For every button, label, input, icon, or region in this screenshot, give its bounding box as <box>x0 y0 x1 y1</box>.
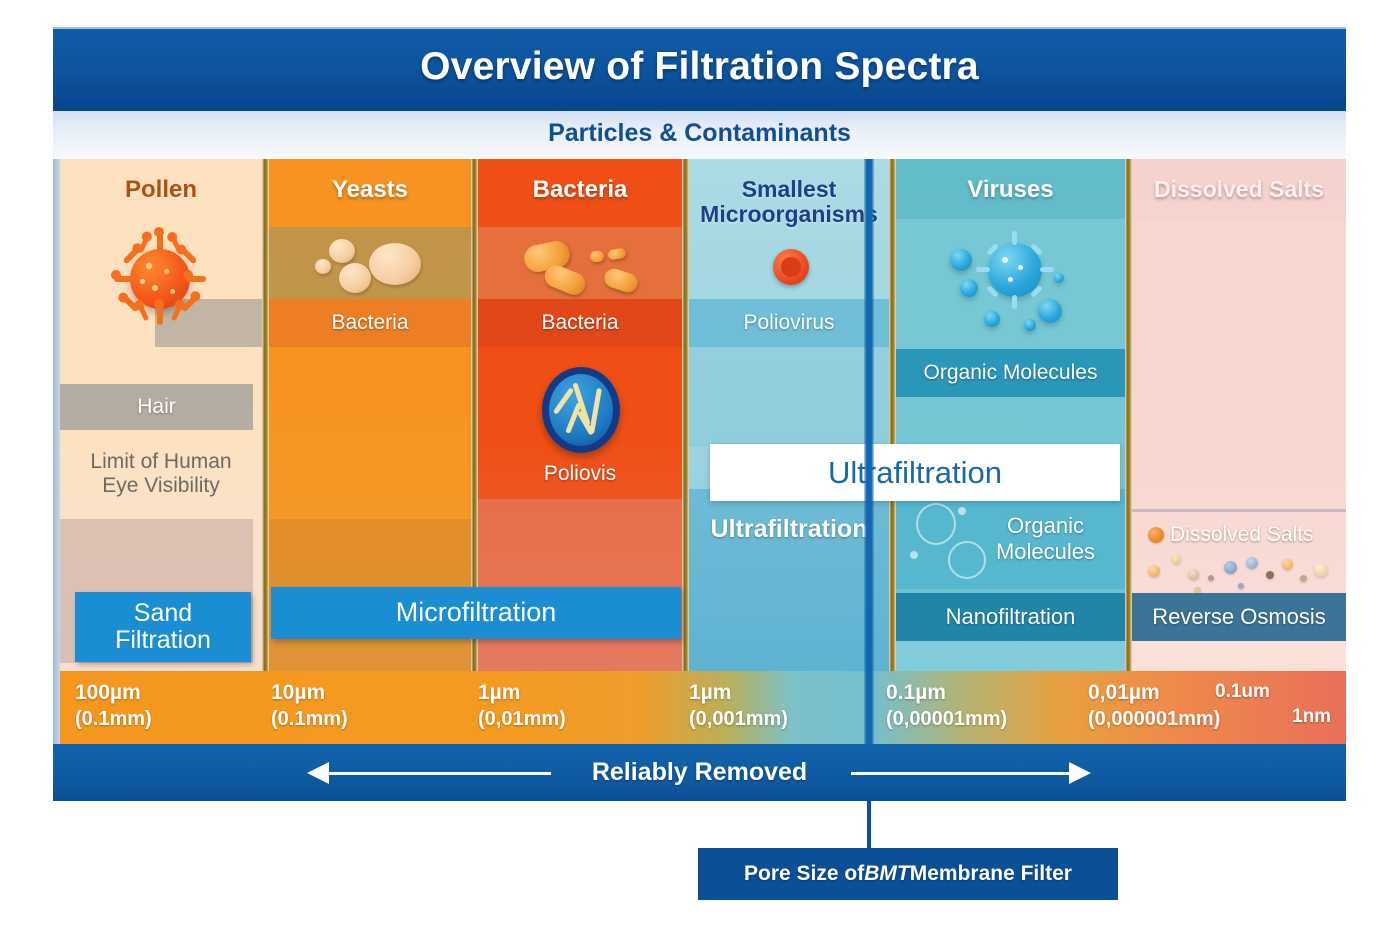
arrow-line-right <box>851 772 1069 775</box>
label-organic-molecules-wide: Organic Molecules <box>896 349 1125 397</box>
method-reverse-osmosis[interactable]: Reverse Osmosis <box>1132 593 1346 641</box>
dissolved-salt-particles-icon <box>1148 527 1164 543</box>
callout-prefix: Pore Size of <box>744 862 864 886</box>
label-hair-text: Hair <box>137 395 176 419</box>
column-title-salts: Dissolved Salts <box>1132 177 1346 202</box>
label-poliovis: Poliovis <box>478 457 682 491</box>
column-divider-3 <box>682 159 689 671</box>
scale-um-4: 0.1µm <box>886 681 1007 705</box>
callout-brand: BMT <box>864 862 910 886</box>
method-nanofiltration[interactable]: Nanofiltration <box>896 593 1125 641</box>
page-title: Overview of Filtration Spectra <box>53 45 1346 89</box>
bacteria-rods-icon <box>518 239 658 299</box>
label-eye-visibility: Limit of Human Eye Visibility <box>60 439 262 509</box>
scale-mm-1: (0.1mm) <box>271 708 348 731</box>
column-smallest-microorganisms: Smallest Microorganisms Poliovirus <box>689 159 889 671</box>
spectrum-board: Pollen <box>53 159 1346 744</box>
method-sand-line2: Filtration <box>115 627 211 655</box>
column-title-pollen: Pollen <box>60 177 262 203</box>
pore-size-callout: Pore Size of BMT Membrane Filter <box>698 848 1118 900</box>
scale-um-3: 1µm <box>689 681 788 705</box>
label-poliovirus: Poliovirus <box>689 299 889 347</box>
label-poliovis-text: Poliovis <box>544 462 616 486</box>
column-title-smallest-line1: Smallest <box>689 177 889 202</box>
scale-item-3: 1µm (0,001mm) <box>689 681 788 731</box>
virus-cluster-icon <box>946 229 1086 339</box>
label-ultrafiltration-col: Ultrafiltration <box>689 507 889 551</box>
method-microfiltration-text: Microfiltration <box>396 598 557 628</box>
stripe-salts-upper <box>1132 219 1346 499</box>
scale-mm-5: (0,000001mm) <box>1088 708 1220 731</box>
scale-item-6: 0.1um <box>1215 681 1270 703</box>
scale-mm-2: (0,01mm) <box>478 708 566 731</box>
bottom-bar: Reliably Removed <box>53 744 1346 801</box>
label-ultrafiltration-col-text: Ultrafiltration <box>711 515 868 544</box>
stripe-salts-divider <box>1132 509 1346 512</box>
pore-size-marker-line <box>864 159 874 744</box>
reliably-removed-label: Reliably Removed <box>53 758 1346 787</box>
label-bacteria-bacteria-text: Bacteria <box>541 311 618 335</box>
scale-um-5: 0,01µm <box>1088 681 1220 705</box>
method-ultrafiltration-text: Ultrafiltration <box>828 455 1002 491</box>
scale-mm-0: (0.1mm) <box>75 708 152 731</box>
label-organic-line2: Molecules <box>996 539 1095 565</box>
molecule-node-icon <box>958 507 966 515</box>
label-bacteria-yeasts: Bacteria <box>269 299 471 347</box>
stripe-bacteria-lower <box>478 499 682 671</box>
scale-item-1: 10µm (0.1mm) <box>271 681 348 731</box>
yeast-cells-icon <box>309 237 439 299</box>
label-dissolved-salts-inline-text: Dissolved Salts <box>1170 523 1314 547</box>
callout-stem <box>867 801 871 848</box>
scale-um-7: 1nm <box>1292 706 1331 728</box>
method-sand-filtration[interactable]: Sand Filtration <box>75 592 251 662</box>
scale-item-5: 0,01µm (0,000001mm) <box>1088 681 1220 731</box>
method-microfiltration[interactable]: Microfiltration <box>271 587 681 639</box>
column-divider-1 <box>262 159 269 671</box>
title-bar: Overview of Filtration Spectra <box>53 27 1346 111</box>
label-organic-two-line: Organic Molecules <box>966 497 1125 581</box>
scale-um-2: 1µm <box>478 681 566 705</box>
molecule-hexagon-icon <box>916 503 956 545</box>
scale-item-2: 1µm (0,01mm) <box>478 681 566 731</box>
scale-item-4: 0.1µm (0,00001mm) <box>886 681 1007 731</box>
label-bacteria-yeasts-text: Bacteria <box>331 311 408 335</box>
column-title-smallest-line2: Microorganisms <box>689 202 889 227</box>
stripe-viruses-bottom <box>896 641 1125 671</box>
label-bacteria-bacteria: Bacteria <box>478 299 682 347</box>
scale-um-0: 100µm <box>75 681 152 705</box>
scale-mm-3: (0,001mm) <box>689 708 788 731</box>
label-poliovirus-text: Poliovirus <box>743 311 834 335</box>
scale-mm-4: (0,00001mm) <box>886 708 1007 731</box>
arrow-head-right <box>1069 762 1091 784</box>
label-organic-line1: Organic <box>1007 513 1084 539</box>
poliovirus-dot-icon <box>773 249 809 285</box>
column-viruses: Viruses <box>896 159 1125 671</box>
method-ultrafiltration[interactable]: Ultrafiltration <box>710 444 1120 501</box>
column-title-smallest: Smallest Microorganisms <box>689 177 889 228</box>
scale-row: 100µm (0.1mm) 10µm (0.1mm) 1µm (0,01mm) … <box>60 671 1346 744</box>
label-eye-visibility-line2: Eye Visibility <box>102 474 220 498</box>
board-left-edge <box>53 159 60 744</box>
method-sand-line1: Sand <box>134 600 192 628</box>
stripe-smallest-mid <box>689 347 889 447</box>
label-hair: Hair <box>60 384 253 430</box>
pollen-grain-icon <box>108 227 212 331</box>
scale-um-1: 10µm <box>271 681 348 705</box>
label-eye-visibility-line1: Limit of Human <box>90 450 231 474</box>
column-title-viruses: Viruses <box>896 177 1125 203</box>
column-pollen: Pollen <box>60 159 262 671</box>
callout-suffix: Membrane Filter <box>910 862 1072 886</box>
molecule-node-icon-2 <box>910 551 918 559</box>
filtration-spectra-infographic: Overview of Filtration Spectra Particles… <box>53 27 1346 889</box>
subtitle-text: Particles & Contaminants <box>53 119 1346 148</box>
stripe-salts-bottom <box>1132 641 1346 671</box>
scale-item-7: 1nm <box>1292 706 1331 728</box>
salt-particles-scatter <box>1142 551 1342 599</box>
poliovirus-disc-icon <box>542 367 620 453</box>
columns-container: Pollen <box>60 159 1346 671</box>
column-title-bacteria: Bacteria <box>478 177 682 203</box>
label-organic-molecules-wide-text: Organic Molecules <box>924 361 1098 385</box>
scale-um-6: 0.1um <box>1215 681 1270 703</box>
method-reverse-osmosis-text: Reverse Osmosis <box>1152 604 1326 630</box>
method-nanofiltration-text: Nanofiltration <box>946 604 1076 630</box>
scale-item-0: 100µm (0.1mm) <box>75 681 152 731</box>
label-dissolved-salts-inline: Dissolved Salts <box>1170 519 1346 551</box>
column-divider-4 <box>889 159 896 671</box>
column-title-yeasts: Yeasts <box>269 177 471 203</box>
column-divider-5 <box>1125 159 1132 671</box>
column-dissolved-salts: Dissolved Salts Dissolved Salts <box>1132 159 1346 671</box>
subtitle-bar: Particles & Contaminants <box>53 111 1346 159</box>
